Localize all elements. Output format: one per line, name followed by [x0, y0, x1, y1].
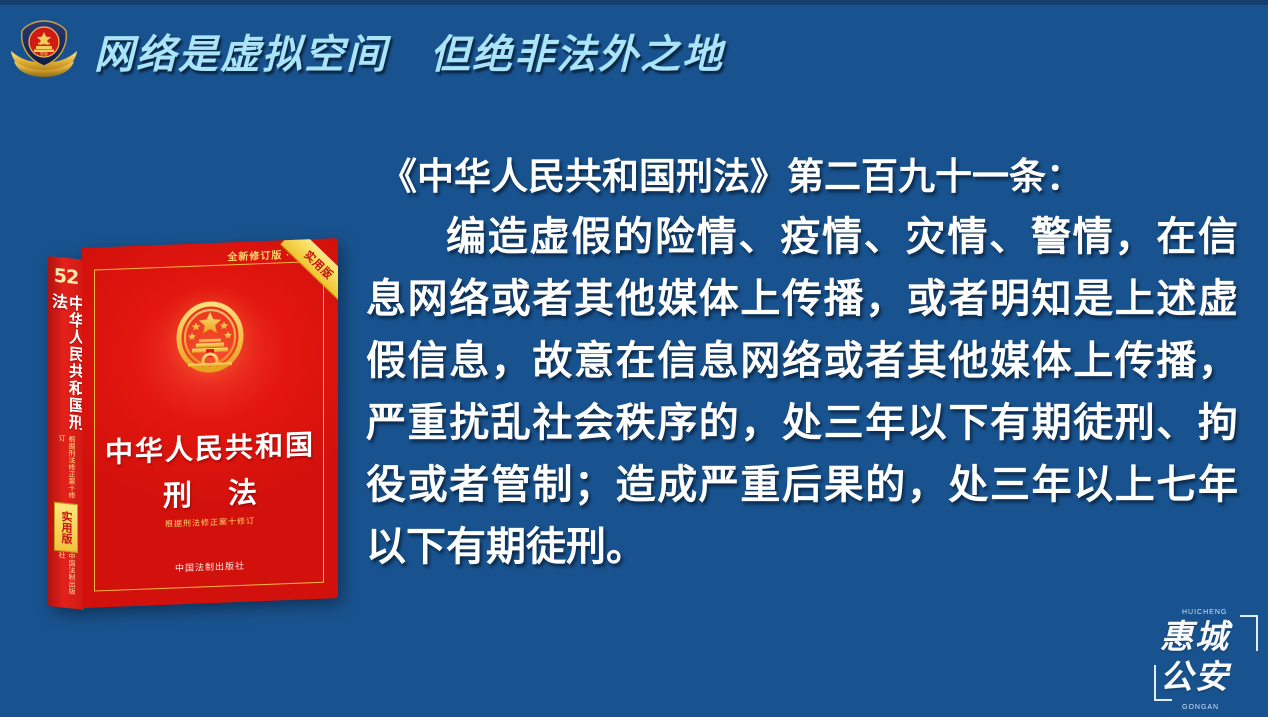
- slide-canvas: 警察 网络是虚拟空间 但绝非法外之地 52 中华人民共和国刑法 根据刑法修正案十…: [0, 0, 1268, 717]
- header-slogan: 网络是虚拟空间 但绝非法外之地: [94, 22, 724, 80]
- spine-badge-label: 实用版: [58, 510, 74, 545]
- law-text-block: 《中华人民共和国刑法》第二百九十一条： 编造虚假的险情、疫情、灾情、警情，在信息…: [366, 146, 1238, 578]
- national-emblem-icon: [162, 289, 258, 389]
- watermark-characters: 惠城公安: [1160, 617, 1252, 701]
- watermark-pinyin-top: HUICHENG: [1182, 609, 1227, 616]
- svg-text:警察: 警察: [40, 51, 48, 57]
- spine-number: 52: [54, 265, 78, 290]
- book-spine: 52 中华人民共和国刑法 根据刑法修正案十修订 实用版 中国法制出版社: [48, 256, 84, 610]
- criminal-law-book-image: 52 中华人民共和国刑法 根据刑法修正案十修订 实用版 中国法制出版社 全新修订…: [48, 248, 338, 613]
- watermark-pinyin-bottom: GONGAN: [1182, 704, 1219, 711]
- police-badge-icon: 警察: [8, 15, 80, 87]
- book-front-cover: 全新修订版 · 刑 法 实用版: [82, 238, 338, 608]
- huicheng-police-watermark: HUICHENG 惠城公安 GONGAN: [1152, 605, 1260, 709]
- law-heading: 《中华人民共和国刑法》第二百九十一条：: [380, 146, 1238, 200]
- spine-subtitle: 根据刑法修正案十修订: [56, 434, 76, 499]
- spine-badge: 实用版: [54, 502, 78, 553]
- header-bar: 警察 网络是虚拟空间 但绝非法外之地: [0, 5, 1268, 97]
- law-body-text: 编造虚假的险情、疫情、灾情、警情，在信息网络或者其他媒体上传播，或者明知是上述虚…: [366, 206, 1238, 578]
- spine-title: 中华人民共和国刑法: [49, 292, 83, 433]
- spine-publisher: 中国法制出版社: [56, 551, 76, 597]
